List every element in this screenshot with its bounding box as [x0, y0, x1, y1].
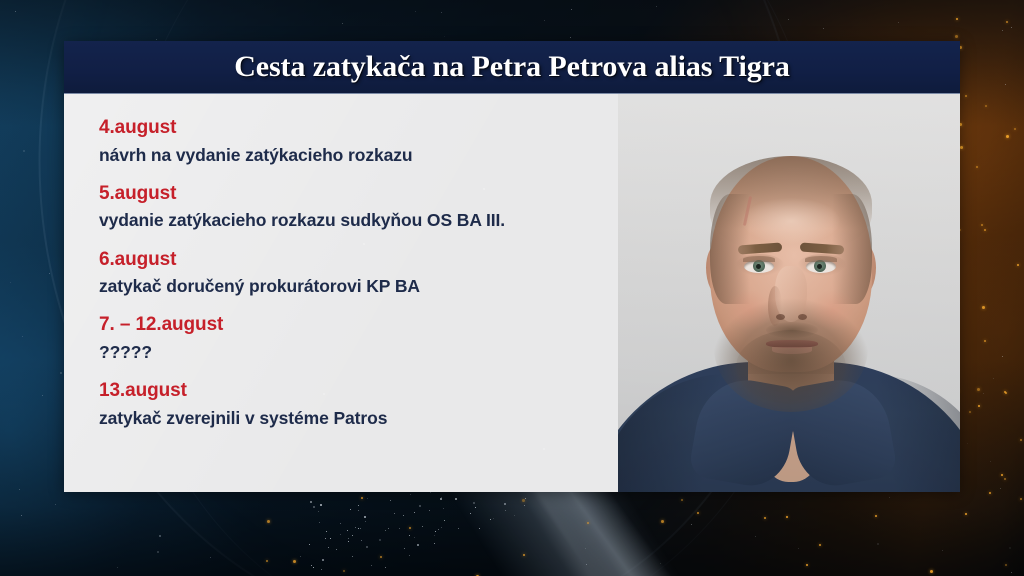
photo-color-grade: [618, 94, 960, 492]
timeline-date: 5.august: [99, 180, 619, 208]
suspect-portrait-photo: [618, 94, 960, 492]
timeline-entry: 6.august zatykač doručený prokurátorovi …: [99, 246, 619, 300]
timeline-date: 7. – 12.august: [99, 311, 619, 339]
timeline-entry: 5.august vydanie zatýkacieho rozkazu sud…: [99, 180, 619, 234]
timeline-list: 4.august návrh na vydanie zatýkacieho ro…: [99, 114, 619, 431]
timeline-entry: 4.august návrh na vydanie zatýkacieho ro…: [99, 114, 619, 168]
broadcast-graphic-stage: Cesta zatykača na Petra Petrova alias Ti…: [0, 0, 1024, 576]
timeline-description: ?????: [99, 339, 619, 365]
timeline-date: 6.august: [99, 246, 619, 274]
card-header: Cesta zatykača na Petra Petrova alias Ti…: [64, 41, 960, 94]
timeline-entry: 7. – 12.august ?????: [99, 311, 619, 365]
timeline-entry: 13.august zatykač zverejnili v systéme P…: [99, 377, 619, 431]
card-body: 4.august návrh na vydanie zatýkacieho ro…: [64, 94, 960, 492]
infographic-card: Cesta zatykača na Petra Petrova alias Ti…: [64, 41, 960, 491]
timeline-description: zatykač doručený prokurátorovi KP BA: [99, 273, 619, 299]
timeline-description: zatykač zverejnili v systéme Patros: [99, 405, 619, 431]
timeline-description: vydanie zatýkacieho rozkazu sudkyňou OS …: [99, 207, 619, 233]
timeline-date: 4.august: [99, 114, 619, 142]
page-title: Cesta zatykača na Petra Petrova alias Ti…: [234, 50, 790, 84]
timeline-date: 13.august: [99, 377, 619, 405]
timeline-description: návrh na vydanie zatýkacieho rozkazu: [99, 142, 619, 168]
